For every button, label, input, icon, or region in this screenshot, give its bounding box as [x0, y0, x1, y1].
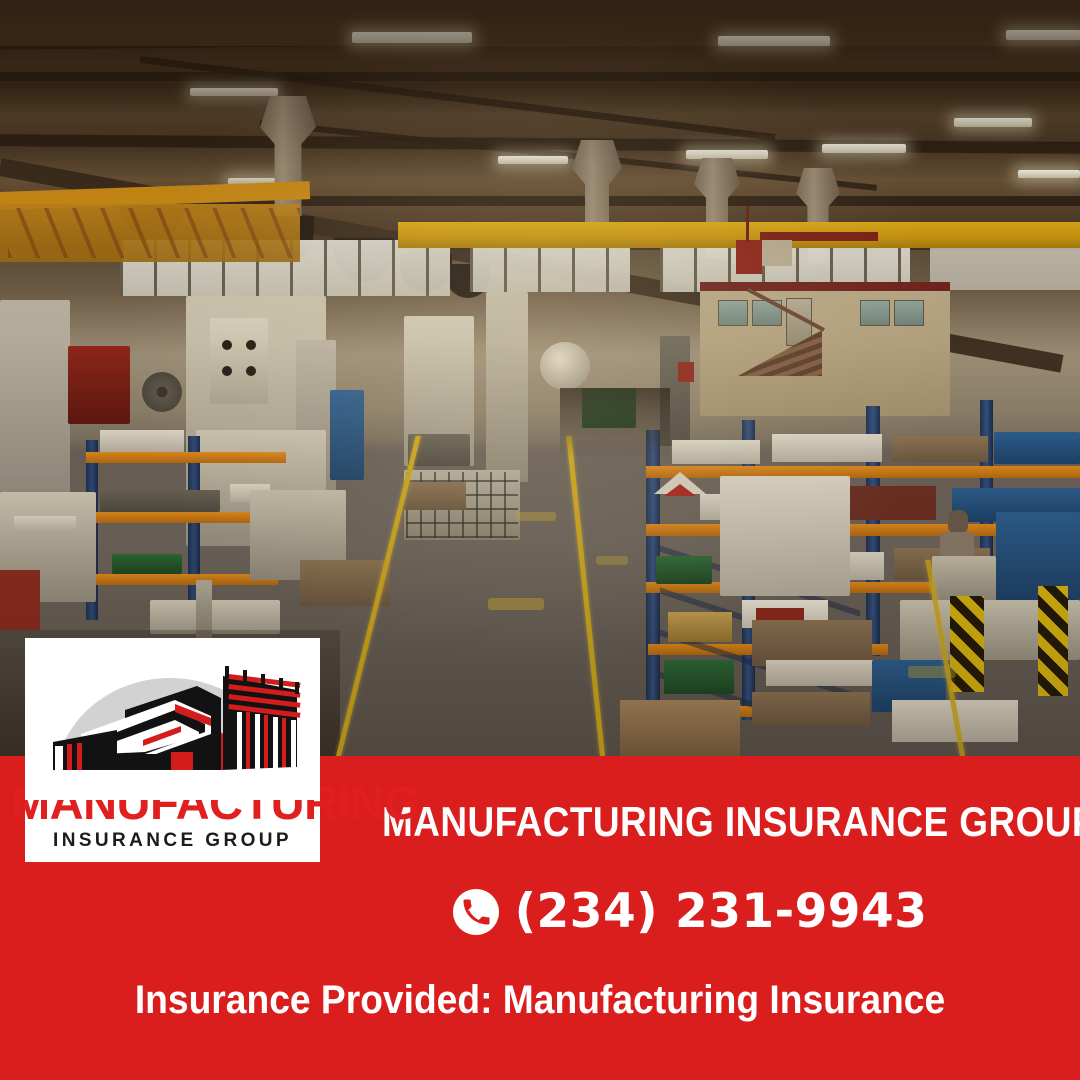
- floor-marking: [908, 666, 956, 678]
- stored-steel: [100, 490, 220, 512]
- crane-trolley: [762, 240, 792, 266]
- ceiling-beam: [0, 72, 1080, 81]
- cage-contents: [404, 482, 466, 510]
- company-name: MANUFACTURING INSURANCE GROUP: [382, 798, 998, 846]
- industrial-fan: [142, 372, 182, 412]
- office-window: [718, 300, 748, 326]
- office-window: [860, 300, 890, 326]
- green-part: [664, 660, 734, 694]
- panel-red-strip: [756, 608, 804, 620]
- floor-marking: [596, 556, 628, 565]
- logo-white-divider: [25, 770, 320, 800]
- office-window: [894, 300, 924, 326]
- cabinet-gauge: [246, 366, 256, 376]
- logo-subtitle: INSURANCE GROUP: [25, 830, 320, 852]
- mezzanine-fascia: [700, 282, 950, 291]
- ceiling-light: [1006, 30, 1080, 40]
- aisle-depth: [560, 388, 670, 458]
- timber-stack: [668, 612, 732, 642]
- ceiling-light: [718, 36, 830, 46]
- cardboard-box: [620, 700, 740, 756]
- green-part: [112, 554, 182, 574]
- ceiling-light: [1018, 170, 1080, 178]
- ceiling-light: [352, 32, 472, 43]
- ad-canvas: MANUFACTURING INSURANCE GROUP (234) 231-…: [0, 0, 1080, 1080]
- stored-box: [772, 434, 882, 462]
- crane-cable: [746, 206, 749, 242]
- ceiling-light: [822, 144, 906, 153]
- blue-equipment: [994, 432, 1080, 464]
- stored-box: [672, 440, 760, 464]
- hydraulic-press: [330, 390, 364, 480]
- cabinet-gauge: [222, 340, 232, 350]
- company-logo[interactable]: MANUFACTURING INSURANCE GROUP: [25, 638, 320, 862]
- reel: [540, 342, 590, 390]
- pallet-box: [766, 660, 874, 686]
- ceiling-beam: [0, 0, 1080, 26]
- cabinet-gauge: [246, 340, 256, 350]
- phone-number[interactable]: (234) 231-9943: [515, 884, 928, 939]
- ceiling-light: [954, 118, 1032, 127]
- pallet-crate: [752, 692, 870, 726]
- crane-truss: [8, 208, 300, 258]
- machine-red-panel: [68, 346, 130, 424]
- floor-marking: [488, 598, 544, 610]
- hazard-post: [950, 596, 984, 692]
- large-white-panel: [720, 476, 850, 596]
- crane-hoist: [736, 240, 762, 274]
- green-part: [656, 556, 712, 584]
- rack-beam: [646, 466, 1080, 478]
- stored-crate: [892, 436, 988, 462]
- phone-row[interactable]: (234) 231-9943: [340, 884, 1040, 939]
- phone-icon: [453, 889, 499, 935]
- press-column: [486, 292, 528, 482]
- hazard-post: [1038, 586, 1068, 696]
- ceiling-light: [498, 156, 568, 164]
- ceiling-beam: [0, 26, 1080, 46]
- stored-box: [100, 430, 184, 452]
- ceiling-light: [686, 150, 768, 159]
- worker-head: [948, 510, 968, 534]
- steel-bar-stack: [150, 600, 280, 634]
- machine-label: [14, 516, 76, 532]
- red-equipment: [0, 570, 40, 630]
- fire-box: [678, 362, 694, 382]
- rack-beam: [86, 452, 286, 463]
- cabinet-gauge: [222, 366, 232, 376]
- control-cabinet: [210, 318, 268, 404]
- insurance-provided-line: Insurance Provided: Manufacturing Insura…: [122, 978, 959, 1023]
- rack-sign-red: [664, 484, 696, 496]
- floor-marking: [516, 512, 556, 521]
- ceiling-light: [190, 88, 278, 96]
- factory-building-illustration: [25, 638, 320, 783]
